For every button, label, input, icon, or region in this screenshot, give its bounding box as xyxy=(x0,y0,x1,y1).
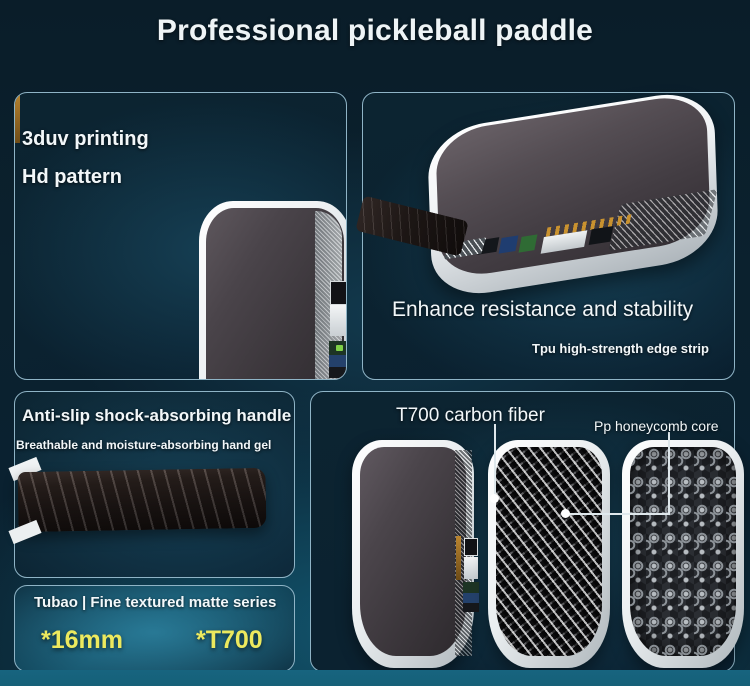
callout-dot-core xyxy=(561,509,570,518)
layer-face-sticker-blue xyxy=(463,593,479,603)
paddle-sticker-black xyxy=(329,367,347,378)
paddle-sticker-green xyxy=(329,341,347,355)
angled-paddle-illustration xyxy=(368,100,730,290)
callout-line-core-horizontal xyxy=(565,513,670,515)
layer-carbon-weave xyxy=(496,447,602,656)
caption-anti-slip-handle: Anti-slip shock-absorbing handle xyxy=(22,406,291,426)
spec-material: *T700 xyxy=(196,626,263,655)
layer-face-sticker-dark xyxy=(464,538,478,556)
callout-line-carbon xyxy=(494,424,496,498)
spec-thickness: *16mm xyxy=(41,626,123,655)
caption-breathable-gel: Breathable and moisture-absorbing hand g… xyxy=(16,438,271,452)
paddle-sticker-blue xyxy=(329,355,347,367)
callout-line-core-vertical xyxy=(668,432,670,514)
label-series: Tubao | Fine textured matte series xyxy=(34,594,276,611)
paddle-label-strip xyxy=(15,93,20,143)
page-title: Professional pickleball paddle xyxy=(0,14,750,48)
layer-core-cells xyxy=(630,447,736,656)
layer-face-sticker-light xyxy=(464,557,478,579)
caption-tpu-edge-strip: Tpu high-strength edge strip xyxy=(532,341,709,356)
layer-honeycomb-core xyxy=(622,440,744,668)
paddle-sticker-dark xyxy=(330,281,347,305)
caption-pp-honeycomb-core: Pp honeycomb core xyxy=(594,418,719,434)
paddle-sticker-light xyxy=(330,305,347,336)
bottom-accent-band xyxy=(0,670,750,686)
caption-hd-pattern: Hd pattern xyxy=(22,166,122,189)
layer-face-sticker-green xyxy=(463,582,479,593)
caption-t700-carbon-fiber: T700 carbon fiber xyxy=(396,405,545,427)
caption-enhance-resistance: Enhance resistance and stability xyxy=(392,298,693,322)
layer-carbon-fiber xyxy=(488,440,610,668)
layer-face-sticker-black xyxy=(463,603,479,612)
layer-face-label-strip xyxy=(456,536,461,580)
caption-3duv-printing: 3duv printing xyxy=(22,128,149,151)
layer-face-surface xyxy=(360,447,466,656)
handle-grip-illustration xyxy=(17,468,266,532)
callout-dot-carbon xyxy=(490,494,499,503)
